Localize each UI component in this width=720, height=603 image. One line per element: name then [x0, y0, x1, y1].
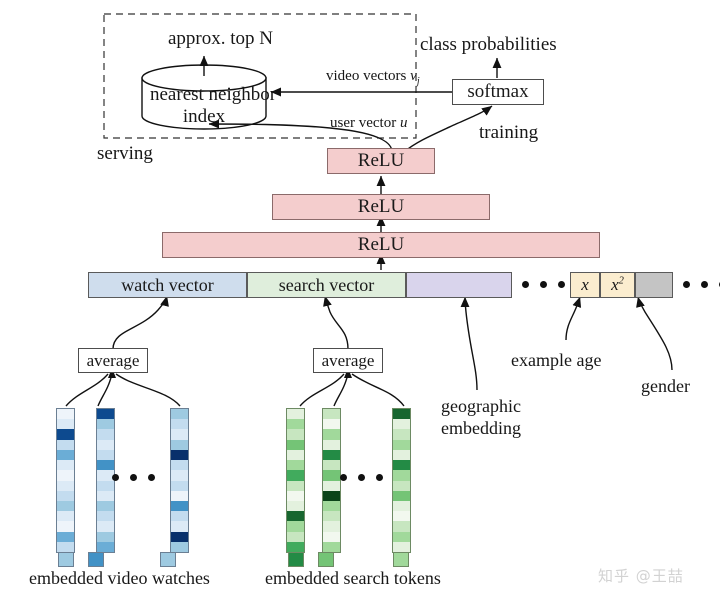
legend-swatch-search-1 [288, 552, 304, 567]
embedding-cell [57, 521, 74, 531]
embedding-cell [171, 429, 188, 439]
feature-row-ellipsis-2 [683, 281, 720, 288]
average-search[interactable]: average [313, 348, 383, 373]
serving-label: serving [97, 143, 153, 165]
embedding-cell [287, 470, 304, 480]
feature-search-vector[interactable]: search vector [247, 272, 406, 298]
embedding-cell [171, 542, 188, 552]
embedding-cell [393, 532, 410, 542]
embedding-cell [57, 501, 74, 511]
relu-bottom-label: ReLU [358, 234, 404, 256]
embedding-cell [97, 440, 114, 450]
legend-swatch-watch-2 [88, 552, 104, 567]
feature-row-ellipsis-1 [522, 281, 565, 288]
embedding-cell [323, 481, 340, 491]
embedding-cell [393, 409, 410, 419]
embedding-cell [323, 491, 340, 501]
embedding-cell [323, 470, 340, 480]
embedding-cell [57, 481, 74, 491]
legend-swatch-watch-1 [58, 552, 74, 567]
embedding-cell [287, 460, 304, 470]
average-watch[interactable]: average [78, 348, 148, 373]
embedding-cell [97, 501, 114, 511]
legend-swatch-watch-3 [160, 552, 176, 567]
watch-embedding-ellipsis [112, 474, 155, 481]
embedding-cell [287, 440, 304, 450]
embedding-cell [393, 542, 410, 552]
average-watch-label: average [87, 351, 140, 371]
embedding-cell [171, 419, 188, 429]
embedding-cell [57, 532, 74, 542]
embedding-cell [323, 521, 340, 531]
embedding-cell [97, 481, 114, 491]
embedding-cell [171, 409, 188, 419]
embedding-cell [97, 521, 114, 531]
embedding-column-search-1[interactable] [286, 408, 305, 553]
embedding-cell [171, 440, 188, 450]
softmax-box[interactable]: softmax [452, 79, 544, 105]
embedding-cell [171, 450, 188, 460]
feature-watch-vector-label: watch vector [121, 275, 213, 296]
embedding-cell [171, 511, 188, 521]
embedding-cell [57, 491, 74, 501]
relu-top-label: ReLU [358, 150, 404, 172]
embedding-cell [57, 450, 74, 460]
embedding-cell [323, 501, 340, 511]
embedding-cell [57, 460, 74, 470]
embedding-cell [287, 409, 304, 419]
embedding-cell [57, 440, 74, 450]
embedding-cell [323, 532, 340, 542]
feature-example-age-x-label: x [581, 275, 589, 295]
average-search-label: average [322, 351, 375, 371]
embedding-cell [97, 450, 114, 460]
embedding-cell [97, 429, 114, 439]
embedding-cell [323, 419, 340, 429]
embedding-cell [393, 440, 410, 450]
embedding-cell [57, 542, 74, 552]
embedding-cell [393, 419, 410, 429]
embedding-cell [57, 470, 74, 480]
embedding-cell [323, 450, 340, 460]
embedding-cell [393, 491, 410, 501]
embedding-cell [393, 470, 410, 480]
embedding-cell [393, 501, 410, 511]
embedding-cell [97, 460, 114, 470]
embedding-cell [287, 491, 304, 501]
embedding-column-search-3[interactable] [392, 408, 411, 553]
embedding-cell [171, 532, 188, 542]
search-embedding-ellipsis [340, 474, 383, 481]
nearest-neighbor-index-label: nearest neighbor index [150, 84, 258, 129]
embedding-cell [171, 470, 188, 480]
embedding-cell [393, 450, 410, 460]
embedding-cell [171, 521, 188, 531]
embedding-cell [97, 419, 114, 429]
embedding-cell [57, 409, 74, 419]
legend-swatch-search-2 [318, 552, 334, 567]
embedding-cell [97, 542, 114, 552]
user-vector-edge-label: user vector u [330, 115, 407, 132]
embedding-cell [171, 501, 188, 511]
embedding-cell [287, 481, 304, 491]
embedding-cell [287, 429, 304, 439]
embedding-cell [171, 481, 188, 491]
example-age-annotation: example age [511, 350, 601, 371]
embedding-cell [57, 419, 74, 429]
feature-search-vector-label: search vector [279, 275, 374, 296]
embedding-cell [287, 511, 304, 521]
feature-gender[interactable] [635, 272, 673, 298]
embedding-cell [287, 542, 304, 552]
embedding-cell [323, 460, 340, 470]
embedding-cell [287, 532, 304, 542]
embedding-cell [323, 429, 340, 439]
embedding-cell [287, 501, 304, 511]
embedding-cell [323, 542, 340, 552]
relu-middle[interactable]: ReLU [272, 194, 490, 220]
embedding-cell [393, 429, 410, 439]
embedding-cell [97, 511, 114, 521]
embedding-cell [393, 511, 410, 521]
embedding-cell [97, 532, 114, 542]
relu-middle-label: ReLU [358, 196, 404, 218]
diagram-canvas: approx. top N nearest neighbor index ser… [0, 0, 720, 603]
embedding-cell [393, 521, 410, 531]
embedding-cell [323, 511, 340, 521]
embedded-video-watches-caption: embedded video watches [29, 568, 210, 589]
class-probabilities-label: class probabilities [420, 34, 557, 56]
embedding-cell [287, 419, 304, 429]
embedding-cell [57, 429, 74, 439]
embedding-cell [393, 460, 410, 470]
embedding-cell [57, 511, 74, 521]
feature-example-age-x-squared[interactable]: x2 [600, 272, 635, 298]
embedding-cell [323, 440, 340, 450]
feature-example-age-x[interactable]: x [570, 272, 600, 298]
relu-bottom[interactable]: ReLU [162, 232, 600, 258]
embedding-cell [393, 481, 410, 491]
embedding-cell [97, 409, 114, 419]
softmax-label: softmax [467, 81, 528, 103]
embedding-column-watch-3[interactable] [170, 408, 189, 553]
embedding-cell [171, 491, 188, 501]
video-vectors-edge-label: video vectors vj [326, 68, 420, 87]
embedding-cell [287, 521, 304, 531]
feature-geographic-embedding[interactable] [406, 272, 512, 298]
embedding-cell [171, 460, 188, 470]
embedding-cell [97, 491, 114, 501]
embedding-cell [323, 409, 340, 419]
feature-example-age-x-squared-label: x2 [611, 275, 624, 295]
watermark: 知乎 @王喆 [598, 565, 684, 586]
legend-swatch-search-3 [393, 552, 409, 567]
geographic-embedding-annotation: geographic embedding [441, 396, 521, 439]
training-label: training [479, 122, 538, 144]
embedding-column-watch-1[interactable] [56, 408, 75, 553]
embedding-column-search-2[interactable] [322, 408, 341, 553]
approx-top-n-label: approx. top N [168, 28, 273, 50]
embedding-cell [287, 450, 304, 460]
relu-top[interactable]: ReLU [327, 148, 435, 174]
embedded-search-tokens-caption: embedded search tokens [265, 568, 441, 589]
gender-annotation: gender [641, 376, 690, 397]
feature-watch-vector[interactable]: watch vector [88, 272, 247, 298]
